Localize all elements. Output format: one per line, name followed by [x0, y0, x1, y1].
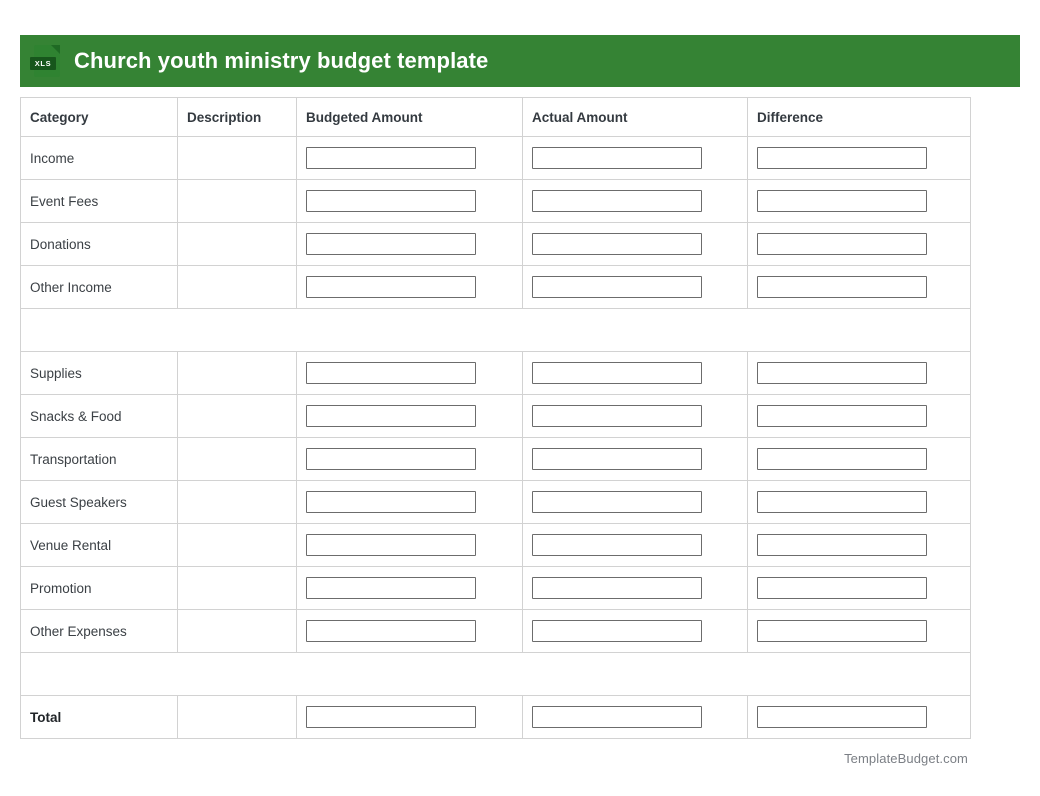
actual-input[interactable] — [532, 233, 702, 255]
cell-description — [178, 223, 297, 266]
budgeted-input[interactable] — [306, 190, 476, 212]
actual-input[interactable] — [532, 577, 702, 599]
actual-input[interactable] — [532, 534, 702, 556]
budgeted-input[interactable] — [306, 620, 476, 642]
difference-input[interactable] — [757, 577, 927, 599]
cell-category: Promotion — [21, 567, 178, 610]
table-row: Other Income — [21, 266, 971, 309]
budgeted-input[interactable] — [306, 233, 476, 255]
actual-input[interactable] — [532, 706, 702, 728]
budgeted-input[interactable] — [306, 448, 476, 470]
cell-description — [178, 395, 297, 438]
cell-category: Event Fees — [21, 180, 178, 223]
difference-input[interactable] — [757, 620, 927, 642]
cell-budgeted — [297, 266, 523, 309]
cell-description — [178, 696, 297, 739]
actual-input[interactable] — [532, 620, 702, 642]
budgeted-input[interactable] — [306, 577, 476, 599]
cell-actual — [523, 266, 748, 309]
cell-actual — [523, 696, 748, 739]
actual-input[interactable] — [532, 362, 702, 384]
actual-input[interactable] — [532, 276, 702, 298]
budgeted-input[interactable] — [306, 276, 476, 298]
cell-description — [178, 352, 297, 395]
cell-actual — [523, 223, 748, 266]
cell-description — [178, 481, 297, 524]
cell-difference — [748, 266, 971, 309]
cell-actual — [523, 137, 748, 180]
cell-description — [178, 137, 297, 180]
difference-input[interactable] — [757, 534, 927, 556]
cell-difference — [748, 524, 971, 567]
cell-difference — [748, 610, 971, 653]
table-row: Other Expenses — [21, 610, 971, 653]
table-spacer-cell — [21, 309, 971, 352]
cell-category: Supplies — [21, 352, 178, 395]
cell-category: Venue Rental — [21, 524, 178, 567]
table-spacer-cell — [21, 653, 971, 696]
xls-file-icon: XLS — [34, 45, 60, 77]
cell-budgeted — [297, 352, 523, 395]
cell-category: Transportation — [21, 438, 178, 481]
cell-description — [178, 266, 297, 309]
cell-actual — [523, 438, 748, 481]
budgeted-input[interactable] — [306, 405, 476, 427]
cell-budgeted — [297, 180, 523, 223]
table-row: Snacks & Food — [21, 395, 971, 438]
table-header: Category Description Budgeted Amount Act… — [21, 98, 971, 137]
cell-category: Snacks & Food — [21, 395, 178, 438]
cell-budgeted — [297, 567, 523, 610]
actual-input[interactable] — [532, 190, 702, 212]
table-body: IncomeEvent FeesDonationsOther IncomeSup… — [21, 137, 971, 739]
table-spacer-row — [21, 653, 971, 696]
cell-budgeted — [297, 524, 523, 567]
cell-difference — [748, 395, 971, 438]
cell-difference — [748, 352, 971, 395]
table-row: Transportation — [21, 438, 971, 481]
cell-difference — [748, 223, 971, 266]
actual-input[interactable] — [532, 147, 702, 169]
cell-description — [178, 438, 297, 481]
cell-budgeted — [297, 481, 523, 524]
budgeted-input[interactable] — [306, 534, 476, 556]
difference-input[interactable] — [757, 276, 927, 298]
table-row: Guest Speakers — [21, 481, 971, 524]
cell-actual — [523, 180, 748, 223]
table-header-row: Category Description Budgeted Amount Act… — [21, 98, 971, 137]
table-row: Supplies — [21, 352, 971, 395]
cell-category: Income — [21, 137, 178, 180]
table-row: Donations — [21, 223, 971, 266]
budget-table: Category Description Budgeted Amount Act… — [20, 97, 971, 739]
table-row: Income — [21, 137, 971, 180]
difference-input[interactable] — [757, 706, 927, 728]
column-header-description: Description — [178, 98, 297, 137]
column-header-category: Category — [21, 98, 178, 137]
difference-input[interactable] — [757, 405, 927, 427]
column-header-budgeted: Budgeted Amount — [297, 98, 523, 137]
cell-description — [178, 524, 297, 567]
cell-actual — [523, 567, 748, 610]
page-root: XLS Church youth ministry budget templat… — [0, 0, 1040, 796]
budgeted-input[interactable] — [306, 362, 476, 384]
cell-difference — [748, 137, 971, 180]
cell-description — [178, 610, 297, 653]
xls-icon-label: XLS — [30, 57, 56, 70]
table-row: Promotion — [21, 567, 971, 610]
cell-difference — [748, 567, 971, 610]
table-row: Event Fees — [21, 180, 971, 223]
cell-category: Total — [21, 696, 178, 739]
cell-budgeted — [297, 696, 523, 739]
cell-actual — [523, 481, 748, 524]
cell-difference — [748, 481, 971, 524]
table-row: Venue Rental — [21, 524, 971, 567]
cell-budgeted — [297, 137, 523, 180]
cell-actual — [523, 395, 748, 438]
cell-category: Other Expenses — [21, 610, 178, 653]
cell-category: Guest Speakers — [21, 481, 178, 524]
page-title: Church youth ministry budget template — [74, 48, 488, 74]
cell-actual — [523, 524, 748, 567]
cell-difference — [748, 180, 971, 223]
cell-budgeted — [297, 610, 523, 653]
table-spacer-row — [21, 309, 971, 352]
column-header-actual: Actual Amount — [523, 98, 748, 137]
cell-actual — [523, 610, 748, 653]
difference-input[interactable] — [757, 362, 927, 384]
cell-description — [178, 180, 297, 223]
column-header-difference: Difference — [748, 98, 971, 137]
difference-input[interactable] — [757, 147, 927, 169]
difference-input[interactable] — [757, 491, 927, 513]
actual-input[interactable] — [532, 491, 702, 513]
cell-budgeted — [297, 223, 523, 266]
table-total-row: Total — [21, 696, 971, 739]
difference-input[interactable] — [757, 190, 927, 212]
cell-difference — [748, 438, 971, 481]
budgeted-input[interactable] — [306, 491, 476, 513]
budgeted-input[interactable] — [306, 147, 476, 169]
cell-budgeted — [297, 438, 523, 481]
difference-input[interactable] — [757, 448, 927, 470]
footer: TemplateBudget.com — [20, 750, 970, 768]
actual-input[interactable] — [532, 405, 702, 427]
cell-description — [178, 567, 297, 610]
budgeted-input[interactable] — [306, 706, 476, 728]
difference-input[interactable] — [757, 233, 927, 255]
cell-actual — [523, 352, 748, 395]
actual-input[interactable] — [532, 448, 702, 470]
footer-brand: TemplateBudget.com — [844, 751, 968, 766]
cell-budgeted — [297, 395, 523, 438]
header-bar: XLS Church youth ministry budget templat… — [20, 35, 1020, 87]
cell-category: Donations — [21, 223, 178, 266]
cell-category: Other Income — [21, 266, 178, 309]
cell-difference — [748, 696, 971, 739]
